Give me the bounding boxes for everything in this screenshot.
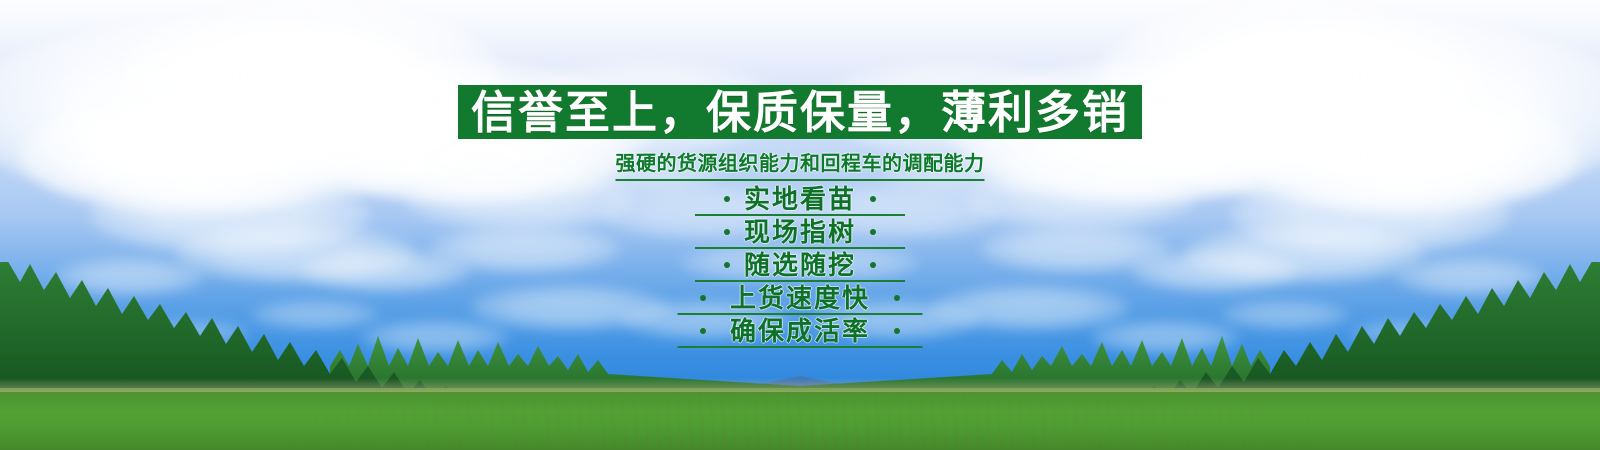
bullet-dot-icon — [700, 328, 706, 334]
bullet-dot-icon — [724, 229, 730, 235]
field-crop-rows — [0, 388, 1600, 450]
promo-banner: 信誉至上，保质保量，薄利多销 强硬的货源组织能力和回程车的调配能力 实地看苗 现… — [0, 0, 1600, 450]
feature-item: 实地看苗 — [590, 182, 1010, 215]
feature-label: 确保成活率 — [730, 318, 870, 344]
feature-label: 上货速度快 — [730, 285, 870, 311]
crop-field — [0, 388, 1600, 450]
feature-list: 实地看苗 现场指树 随选随挖 上货速度快 — [590, 182, 1010, 347]
feature-item: 现场指树 — [590, 215, 1010, 248]
subtitle-text: 强硬的货源组织能力和回程车的调配能力 — [616, 147, 985, 181]
bullet-dot-icon — [870, 196, 876, 202]
bullet-dot-icon — [724, 196, 730, 202]
headline-banner-bar: 信誉至上，保质保量，薄利多销 — [458, 85, 1142, 139]
bullet-dot-icon — [700, 295, 706, 301]
feature-divider — [678, 346, 923, 348]
feature-item: 确保成活率 — [590, 314, 1010, 347]
feature-label: 现场指树 — [744, 219, 856, 245]
bullet-dot-icon — [870, 229, 876, 235]
feature-item: 随选随挖 — [590, 248, 1010, 281]
bullet-dot-icon — [724, 262, 730, 268]
bullet-dot-icon — [870, 262, 876, 268]
feature-label: 实地看苗 — [744, 186, 856, 212]
headline-text: 信誉至上，保质保量，薄利多销 — [471, 90, 1129, 135]
feature-item: 上货速度快 — [590, 281, 1010, 314]
bullet-dot-icon — [894, 328, 900, 334]
feature-label: 随选随挖 — [744, 252, 856, 278]
bullet-dot-icon — [894, 295, 900, 301]
